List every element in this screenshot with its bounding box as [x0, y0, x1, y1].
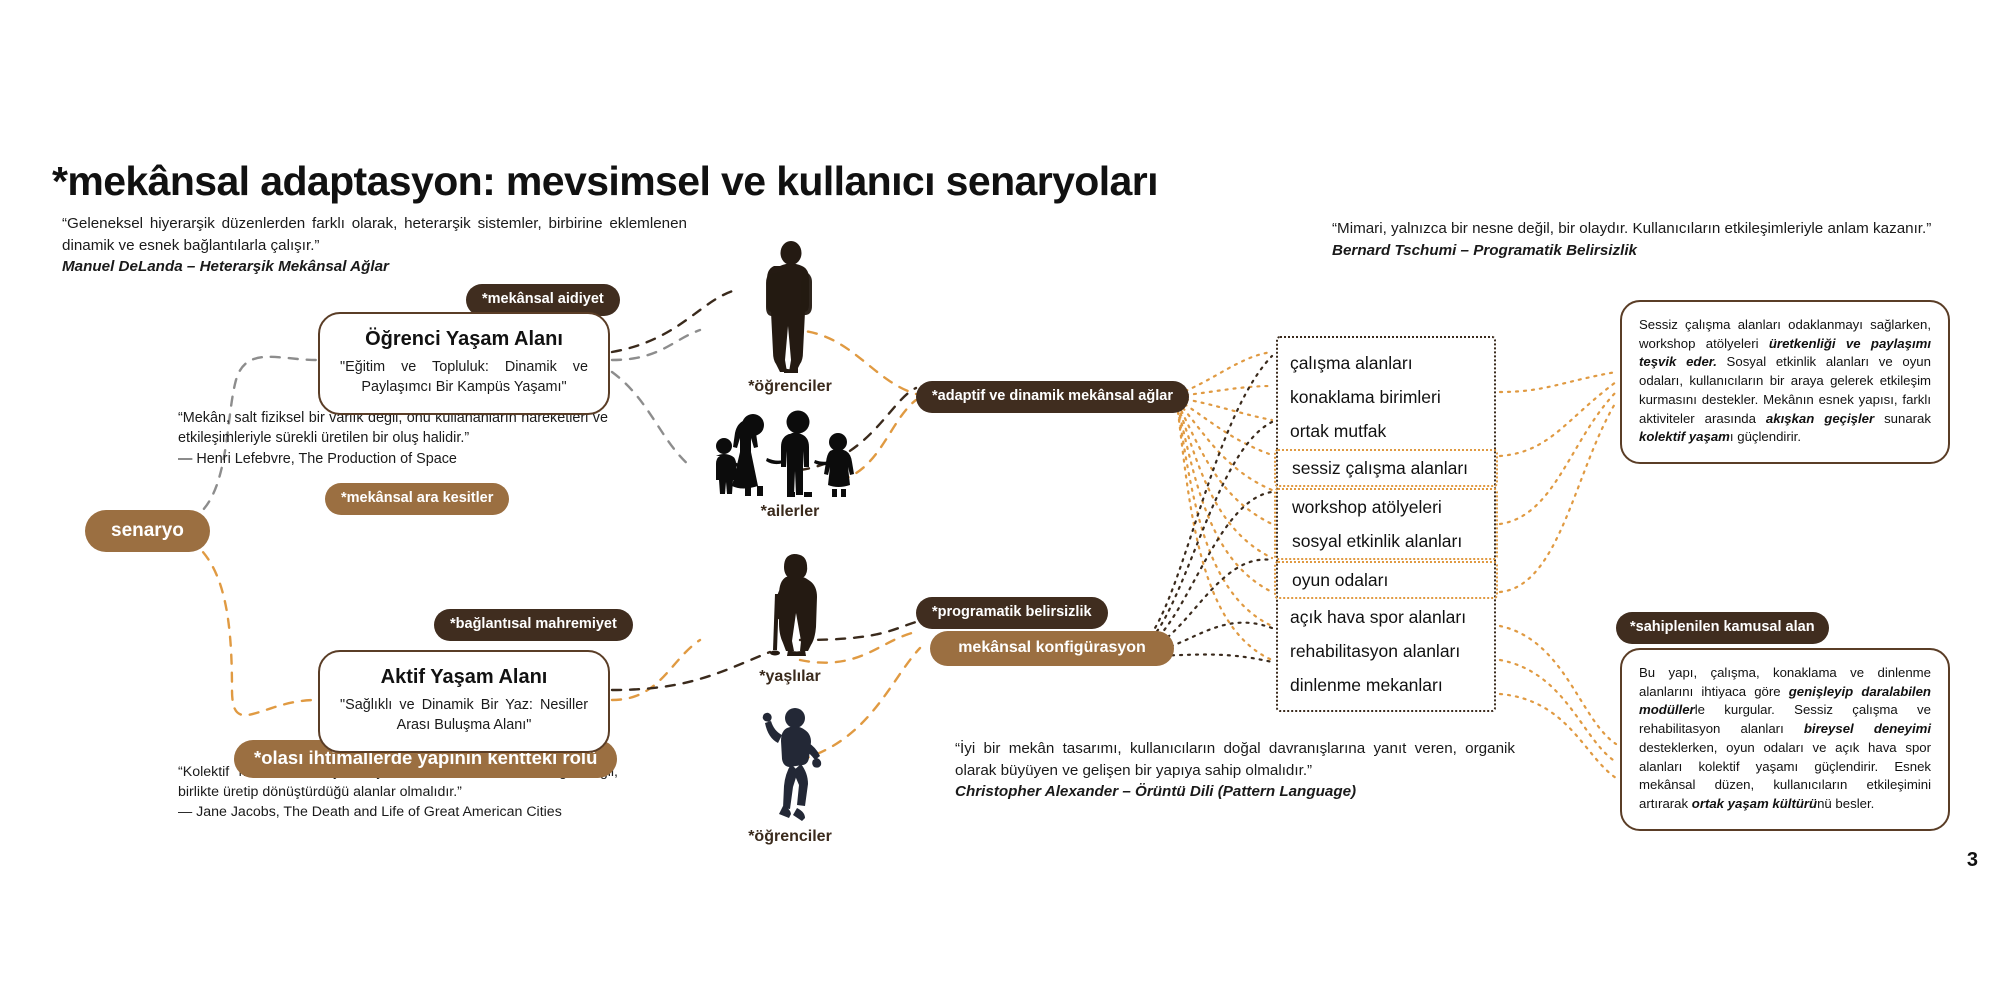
page-title: *mekânsal adaptasyon: mevsimsel ve kulla… — [52, 158, 1158, 205]
card-title: Aktif Yaşam Alanı — [340, 666, 588, 689]
quote-tschumi-text: “Mimari, yalnızca bir nesne değil, bir o… — [1332, 220, 1931, 237]
pill-mekansal-aidiyet[interactable]: *mekânsal aidiyet — [466, 284, 620, 316]
program-list-item[interactable]: konaklama birimleri — [1278, 380, 1494, 414]
quote-lefebvre-source: — Henri Lefebvre, The Production of Spac… — [178, 449, 608, 469]
body-text: sunarak — [1874, 411, 1931, 426]
program-list-item[interactable]: sessiz çalışma alanları — [1280, 451, 1492, 485]
quote-alexander-source: Christopher Alexander – Örüntü Dili (Pat… — [955, 781, 1515, 803]
running-person-icon — [745, 700, 835, 825]
persona-label: *ailerler — [680, 503, 900, 521]
persona-label: *öğrenciler — [700, 378, 880, 396]
program-list-item[interactable]: ortak mutfak — [1278, 414, 1494, 448]
pill-programatik-belirsizlik[interactable]: *programatik belirsizlik — [916, 597, 1108, 629]
quote-alexander-text: “İyi bir mekân tasarımı, kullanıcıların … — [955, 740, 1515, 779]
program-list-item[interactable]: çalışma alanları — [1278, 346, 1494, 380]
persona-ogrenciler-student: *öğrenciler — [700, 240, 880, 396]
persona-label: *öğrenciler — [700, 828, 880, 846]
pill-mekansal-ara-kesitler[interactable]: *mekânsal ara kesitler — [325, 483, 509, 515]
diagram-canvas: *mekânsal adaptasyon: mevsimsel ve kulla… — [0, 0, 2000, 1000]
quote-delanda: “Geleneksel hiyerarşik düzenlerden farkl… — [62, 213, 687, 278]
card-subtitle: "Eğitim ve Topluluk: Dinamik ve Paylaşım… — [340, 357, 588, 397]
card-title: Öğrenci Yaşam Alanı — [340, 328, 588, 351]
emphasis-text: kolektif yaşam — [1639, 429, 1730, 444]
quote-tschumi: “Mimari, yalnızca bir nesne değil, bir o… — [1332, 218, 1972, 261]
body-text: ı güçlendirir. — [1730, 429, 1801, 444]
persona-ogrenciler-runner: *öğrenciler — [700, 700, 880, 846]
body-text: nü besler. — [1817, 796, 1874, 811]
program-list-item[interactable]: oyun odaları — [1280, 563, 1492, 597]
card-ogrenci-yasam-alani[interactable]: Öğrenci Yaşam Alanı "Eğitim ve Topluluk:… — [318, 312, 610, 415]
program-list-item[interactable]: workshop atölyeleri — [1280, 490, 1492, 524]
pill-sahiplenilen-kamusal-alan[interactable]: *sahiplenilen kamusal alan — [1616, 612, 1829, 644]
pill-mekansal-konfigurasyon[interactable]: mekânsal konfigürasyon — [930, 631, 1174, 666]
quote-delanda-source: Manuel DeLanda – Heterarşik Mekânsal Ağl… — [62, 256, 687, 278]
infobox-sessiz-calisma: Sessiz çalışma alanları odaklanmayı sağl… — [1620, 300, 1950, 464]
persona-ailerler-family: *ailerler — [680, 400, 900, 521]
persona-yaslilar-elderly: *yaşlılar — [700, 550, 880, 686]
program-list-highlight-group: oyun odaları — [1274, 561, 1498, 599]
quote-alexander: “İyi bir mekân tasarımı, kullanıcıların … — [955, 738, 1515, 803]
quote-delanda-text: “Geleneksel hiyerarşik düzenlerden farkl… — [62, 215, 687, 254]
connector-lines — [0, 0, 2000, 1000]
quote-tschumi-source: Bernard Tschumi – Programatik Belirsizli… — [1332, 240, 1972, 262]
pill-adaptif-dinamik-aglar[interactable]: *adaptif ve dinamik mekânsal ağlar — [916, 381, 1189, 413]
card-aktif-yasam-alani[interactable]: Aktif Yaşam Alanı "Sağlıklı ve Dinamik B… — [318, 650, 610, 753]
program-space-list[interactable]: çalışma alanlarıkonaklama birimleriortak… — [1276, 336, 1496, 712]
pill-baglantisal-mahremiyet[interactable]: *bağlantısal mahremiyet — [434, 609, 633, 641]
program-list-highlight-group: sessiz çalışma alanları — [1274, 449, 1498, 487]
program-list-item[interactable]: sosyal etkinlik alanları — [1280, 524, 1492, 558]
student-with-backpack-icon — [750, 240, 830, 375]
persona-label: *yaşlılar — [700, 668, 880, 686]
emphasis-text: akışkan geçişler — [1766, 411, 1874, 426]
program-list-item[interactable]: dinlenme mekanları — [1278, 668, 1494, 702]
quote-lefebvre: “Mekân, salt fiziksel bir varlık değil, … — [178, 408, 608, 469]
family-group-icon — [705, 400, 875, 500]
quote-jacobs-source: — Jane Jacobs, The Death and Life of Gre… — [178, 802, 618, 822]
program-list-highlight-group: workshop atölyelerisosyal etkinlik alanl… — [1274, 488, 1498, 560]
infobox-sahiplenilen-kamusal-alan: Bu yapı, çalışma, konaklama ve dinlenme … — [1620, 648, 1950, 831]
card-subtitle: "Sağlıklı ve Dinamik Bir Yaz: Nesiller A… — [340, 695, 588, 735]
program-list-item[interactable]: rehabilitasyon alanları — [1278, 634, 1494, 668]
program-list-item[interactable]: açık hava spor alanları — [1278, 600, 1494, 634]
quote-lefebvre-text: “Mekân, salt fiziksel bir varlık değil, … — [178, 410, 608, 446]
emphasis-text: ortak yaşam kültürü — [1692, 796, 1817, 811]
emphasis-text: bireysel deneyimi — [1804, 721, 1931, 736]
page-number: 3 — [1967, 849, 1978, 872]
elderly-with-cane-icon — [750, 550, 830, 665]
pill-senaryo[interactable]: senaryo — [85, 510, 210, 552]
